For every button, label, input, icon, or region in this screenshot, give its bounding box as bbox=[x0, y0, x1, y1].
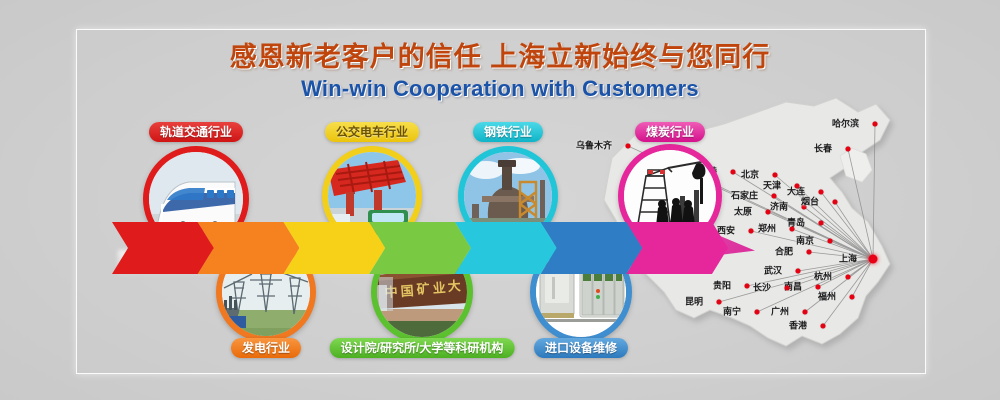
city-dot-17 bbox=[869, 255, 878, 264]
city-label-4: 天津 bbox=[763, 179, 781, 192]
svg-text:大: 大 bbox=[447, 278, 461, 295]
city-dot-27 bbox=[821, 324, 826, 329]
city-dot-12 bbox=[626, 144, 631, 149]
industry-label-rail[interactable]: 轨道交通行业 bbox=[149, 122, 243, 142]
banner-title-block: 感恩新老客户的信任 上海立新始终与您同行 Win-win Cooperation… bbox=[0, 40, 1000, 102]
city-label-7: 济南 bbox=[770, 200, 788, 213]
city-dot-10 bbox=[766, 210, 771, 215]
city-label-1: 长春 bbox=[814, 142, 832, 155]
city-dot-6 bbox=[772, 194, 777, 199]
industry-label-research[interactable]: 设计院/研究所/大学等科研机构 bbox=[330, 338, 515, 358]
city-dot-21 bbox=[785, 286, 790, 291]
city-dot-16 bbox=[807, 250, 812, 255]
city-dot-3 bbox=[773, 173, 778, 178]
industry-label-steel[interactable]: 钢铁行业 bbox=[473, 122, 543, 142]
industry-label-equipment[interactable]: 进口设备维修 bbox=[534, 338, 628, 358]
city-dot-1 bbox=[846, 147, 851, 152]
city-label-18: 杭州 bbox=[814, 270, 832, 283]
industry-label-coal[interactable]: 煤炭行业 bbox=[635, 122, 705, 142]
city-label-3: 北京 bbox=[741, 168, 759, 181]
page-title-chinese: 感恩新老客户的信任 上海立新始终与您同行 bbox=[0, 40, 1000, 74]
city-label-15: 南京 bbox=[796, 234, 814, 247]
city-label-12: 乌鲁木齐 bbox=[576, 139, 612, 152]
city-dot-22 bbox=[745, 284, 750, 289]
city-label-0: 哈尔滨 bbox=[832, 117, 859, 130]
city-dot-23 bbox=[717, 300, 722, 305]
city-dot-9 bbox=[819, 221, 824, 226]
industry-arrow-band bbox=[112, 222, 712, 274]
city-label-22: 贵阳 bbox=[713, 279, 731, 292]
city-label-24: 南宁 bbox=[723, 305, 741, 318]
city-label-8: 烟台 bbox=[801, 195, 819, 208]
svg-text:国: 国 bbox=[400, 284, 414, 300]
city-dot-5 bbox=[731, 170, 736, 175]
promo-banner: 感恩新老客户的信任 上海立新始终与您同行 Win-win Cooperation… bbox=[0, 0, 1000, 400]
city-dot-24 bbox=[755, 310, 760, 315]
city-label-16: 合肥 bbox=[775, 245, 793, 258]
city-label-21: 长沙 bbox=[753, 281, 771, 294]
city-dot-15 bbox=[828, 239, 833, 244]
city-label-26: 广州 bbox=[771, 305, 789, 318]
city-dot-26 bbox=[803, 310, 808, 315]
city-dot-4 bbox=[795, 184, 800, 189]
city-label-17: 上海 bbox=[839, 252, 857, 265]
city-dot-25 bbox=[850, 295, 855, 300]
city-label-27: 香港 bbox=[789, 319, 807, 332]
city-label-6: 石家庄 bbox=[731, 189, 758, 202]
city-dot-14 bbox=[790, 227, 795, 232]
city-label-23: 昆明 bbox=[685, 295, 703, 308]
svg-text:业: 业 bbox=[432, 280, 446, 297]
city-dot-8 bbox=[833, 200, 838, 205]
city-dot-2 bbox=[819, 190, 824, 195]
svg-text:矿: 矿 bbox=[416, 281, 430, 298]
industry-label-bus[interactable]: 公交电车行业 bbox=[325, 122, 419, 142]
city-label-14: 郑州 bbox=[758, 222, 776, 235]
industry-label-power[interactable]: 发电行业 bbox=[231, 338, 301, 358]
city-dot-13 bbox=[749, 229, 754, 234]
city-label-10: 太原 bbox=[734, 205, 752, 218]
city-dot-18 bbox=[846, 275, 851, 280]
city-label-19: 武汉 bbox=[764, 264, 782, 277]
city-dot-0 bbox=[873, 122, 878, 127]
arrow-segment-1 bbox=[112, 222, 214, 274]
city-label-25: 福州 bbox=[818, 290, 836, 303]
city-dot-19 bbox=[796, 269, 801, 274]
